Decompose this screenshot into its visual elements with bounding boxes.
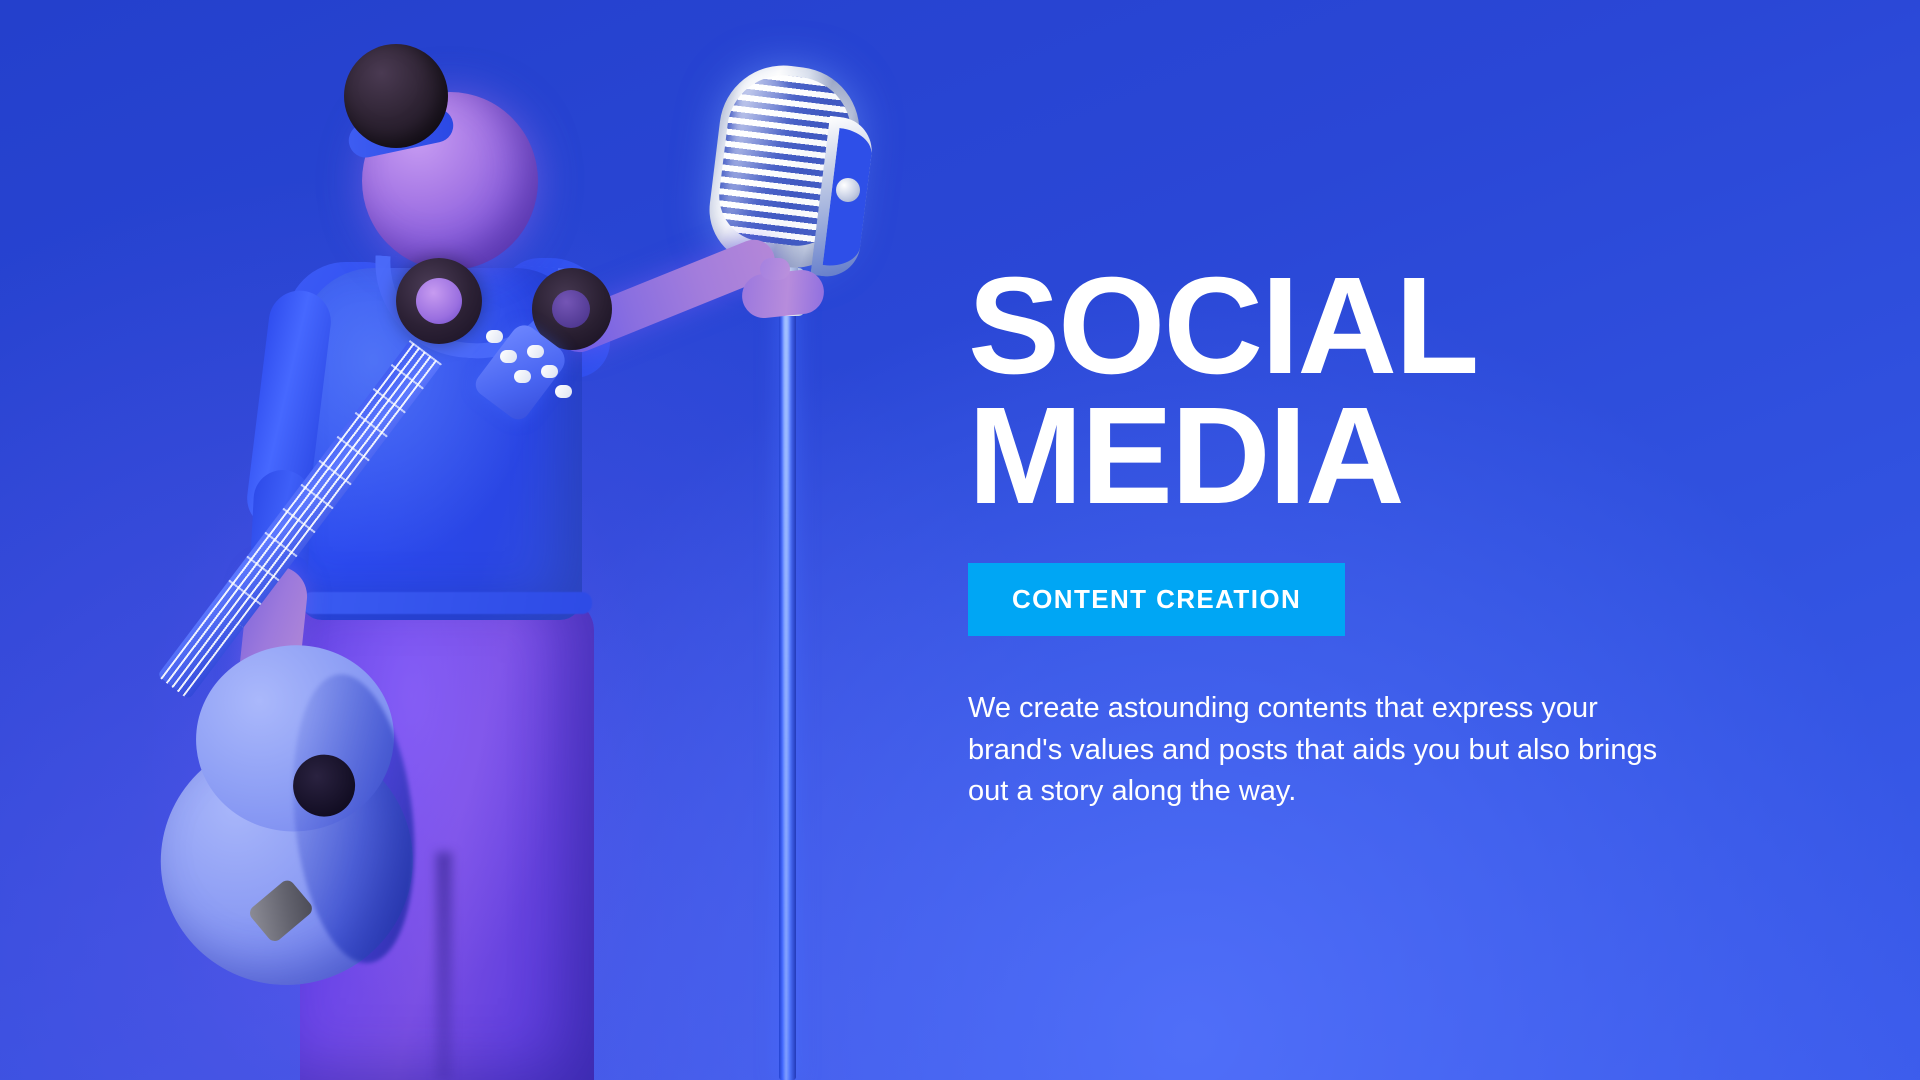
musician-illustration: [0, 0, 980, 1080]
description-text: We create astounding contents that expre…: [968, 688, 1684, 812]
content-creation-button[interactable]: CONTENT CREATION: [968, 563, 1345, 636]
headphones-left-earpad: [416, 278, 462, 324]
character-waistband: [302, 592, 592, 614]
guitar-tuning-peg: [541, 365, 558, 378]
character-right-thumb: [760, 258, 790, 280]
guitar-tuning-peg: [555, 385, 572, 398]
microphone-screw: [836, 178, 860, 202]
social-media-hero-banner: SOCIAL MEDIA CONTENT CREATION We create …: [0, 0, 1920, 1080]
microphone-stand-highlight: [783, 300, 789, 1080]
headphones-right-earpad: [552, 290, 590, 328]
headline-line-2: MEDIA: [968, 392, 1748, 522]
guitar-tuning-peg: [514, 370, 531, 383]
page-title: SOCIAL MEDIA: [968, 262, 1748, 521]
guitar-tuning-peg: [500, 350, 517, 363]
hero-content: SOCIAL MEDIA CONTENT CREATION We create …: [968, 262, 1748, 812]
character-hair-bun: [344, 44, 448, 148]
guitar-tuning-peg: [527, 345, 544, 358]
guitar-tuning-peg: [486, 330, 503, 343]
